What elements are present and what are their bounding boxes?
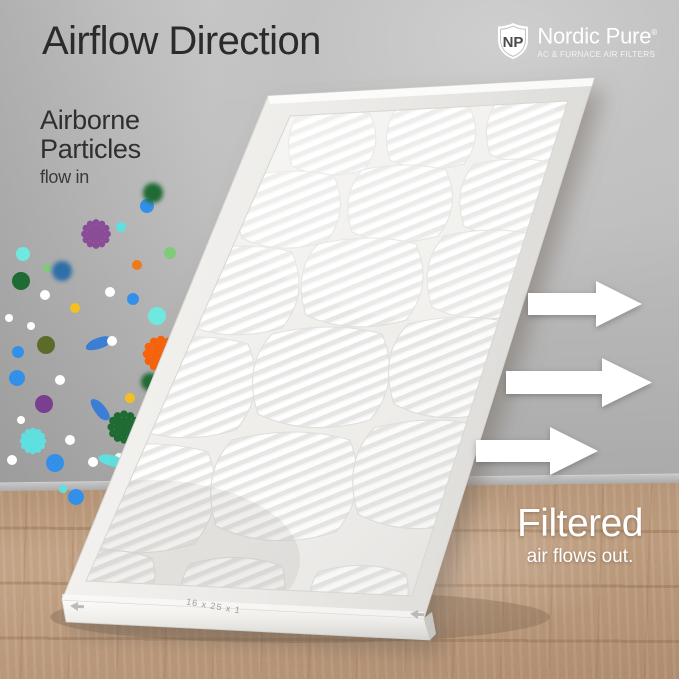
particle [127, 293, 139, 305]
particle [295, 318, 303, 326]
filtered-air-arrow-1 [528, 281, 642, 327]
particle [288, 192, 300, 204]
filtered-air-callout: Filtered air flows out. [517, 503, 643, 568]
particle [68, 489, 84, 505]
particle [143, 183, 163, 203]
particle [310, 442, 322, 454]
particle [336, 330, 350, 344]
filtered-heading: Filtered [517, 503, 643, 545]
particle [317, 257, 325, 265]
particle [231, 299, 247, 315]
filtered-subtext: air flows out. [517, 546, 643, 568]
page-title: Airflow Direction [42, 19, 321, 64]
particle [245, 282, 259, 296]
particle [185, 415, 209, 439]
particle [164, 247, 176, 259]
infographic-canvas: 16 x 25 x 1 Airflow Direction Airborne P… [0, 0, 679, 679]
particle [114, 417, 134, 437]
particle [191, 305, 201, 315]
particle [205, 345, 217, 357]
particle [12, 346, 24, 358]
particle [55, 375, 65, 385]
particle [105, 287, 115, 297]
particle [16, 247, 30, 261]
filtered-air-arrow-2 [506, 358, 652, 407]
particle [107, 336, 117, 346]
particle [332, 451, 346, 465]
particle [40, 290, 50, 300]
brand-name-text: Nordic Pure [537, 24, 651, 49]
particle [17, 416, 25, 424]
airborne-subtext: flow in [40, 166, 141, 189]
particle [43, 264, 51, 272]
particle [27, 322, 35, 330]
particle [236, 364, 246, 374]
particle [125, 393, 135, 403]
particle [261, 294, 279, 312]
particle [59, 485, 67, 493]
airborne-particles-callout: Airborne Particles flow in [40, 106, 141, 189]
particle [255, 444, 277, 466]
particle [65, 435, 75, 445]
brand-tagline: AC & FURNACE AIR FILTERS [537, 50, 657, 60]
particle [349, 222, 365, 238]
airborne-line-1: Airborne [40, 105, 140, 135]
particle [7, 455, 17, 465]
particle [264, 365, 278, 379]
particle [9, 370, 25, 386]
particle [87, 225, 105, 243]
brand-name: Nordic Pure® [537, 22, 657, 47]
particle [221, 442, 231, 452]
filtered-air-arrow-3 [476, 427, 598, 475]
particle [275, 475, 285, 485]
svg-text:NP: NP [503, 34, 524, 51]
particle [12, 272, 30, 290]
particle [25, 433, 41, 449]
particle [132, 260, 142, 270]
particle [88, 457, 98, 467]
particle [46, 454, 64, 472]
airborne-particles-group [0, 0, 679, 679]
particle [324, 279, 338, 293]
particle [150, 343, 172, 365]
particle [35, 395, 53, 413]
particle [243, 260, 251, 268]
airborne-line-2: Particles [40, 134, 141, 164]
shield-icon: NP [496, 22, 530, 60]
particle [5, 314, 13, 322]
particle [217, 487, 227, 497]
particle [281, 335, 297, 351]
particle [148, 307, 166, 325]
particle [70, 303, 80, 313]
particle [198, 255, 214, 274]
particle [323, 200, 348, 216]
particle [281, 171, 291, 181]
particle [337, 294, 347, 304]
particle [166, 405, 176, 415]
registered-trademark-icon: ® [651, 28, 657, 37]
brand-logo: NP Nordic Pure® AC & FURNACE AIR FILTERS [496, 22, 657, 60]
particle [301, 226, 311, 236]
brand-wordmark: Nordic Pure® AC & FURNACE AIR FILTERS [537, 22, 657, 59]
particle [209, 368, 223, 382]
particle [178, 446, 190, 458]
particle [88, 396, 113, 423]
particle [158, 466, 174, 482]
particle [149, 427, 160, 451]
particle [116, 222, 126, 232]
particle [133, 469, 149, 485]
particle [296, 254, 308, 266]
particle [37, 336, 55, 354]
particle [255, 395, 273, 413]
particle [141, 373, 159, 391]
particle [306, 277, 316, 287]
particle [52, 261, 72, 281]
